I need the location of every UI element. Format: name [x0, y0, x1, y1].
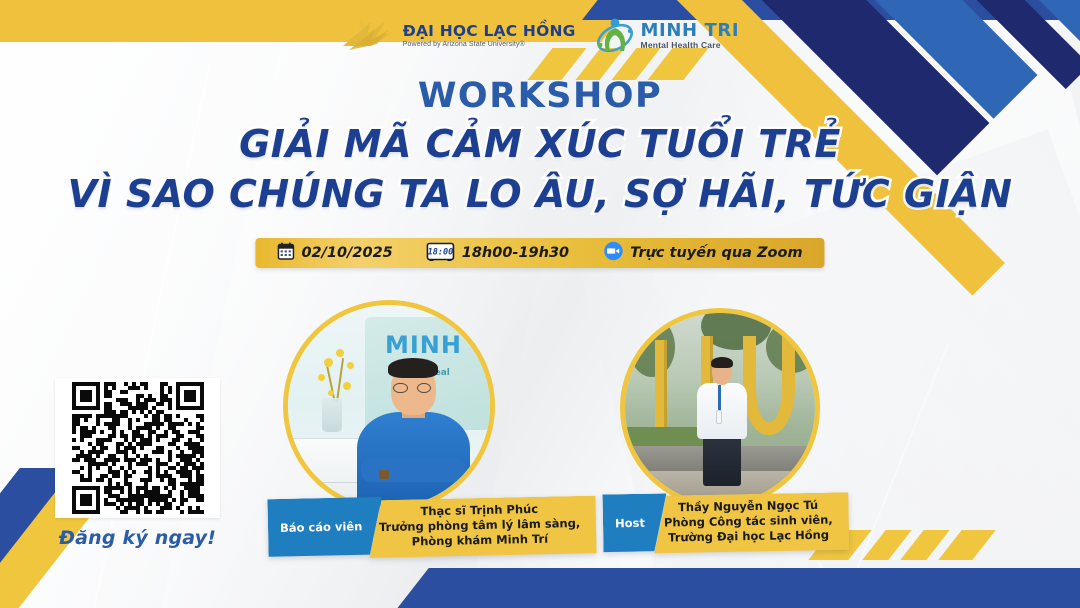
speaker-1-photo-scene: MINH Mental Heal [288, 305, 490, 507]
speaker-2-photo-scene [625, 313, 815, 503]
logo-minh-tri: MINH TRI Mental Health Care [594, 15, 740, 57]
speaker-2 [620, 308, 820, 508]
info-time-text: 18h00-19h30 [462, 245, 569, 261]
speaker-1-nameplate: Báo cáo viên Thạc sĩ Trịnh Phúc Trưởng p… [268, 498, 597, 556]
person-orbit-mark-icon [594, 15, 636, 57]
info-date: 02/10/2025 [277, 242, 392, 264]
poster-canvas: ĐẠI HỌC LẠC HỒNG Powered by Arizona Stat… [0, 0, 1080, 608]
logo-lac-hong: ĐẠI HỌC LẠC HỒNG Powered by Arizona Stat… [341, 16, 576, 56]
info-platform-text: Trực tuyến qua Zoom [630, 245, 802, 261]
speaker-1-role-badge: Báo cáo viên [267, 497, 383, 557]
clock-icon: 18:00 [427, 242, 455, 265]
zoom-camera-icon [603, 241, 623, 265]
info-date-text: 02/10/2025 [301, 245, 392, 261]
workshop-kicker: WORKSHOP [0, 76, 1080, 116]
logo-lac-hong-name: ĐẠI HỌC LẠC HỒNG [403, 24, 576, 40]
speaker-1: MINH Mental Heal [283, 300, 495, 512]
logo-minh-tri-tagline: Mental Health Care [641, 41, 740, 50]
svg-text:18:00: 18:00 [428, 247, 454, 257]
logo-minh-tri-name: MINH TRI [641, 22, 740, 41]
registration-label: Đăng ký ngay! [55, 527, 220, 549]
info-time: 18:00 18h00-19h30 [427, 242, 569, 265]
event-info-bar: 02/10/2025 18:00 18h00-19h30 [255, 238, 824, 268]
arrow-star-mark-icon [341, 16, 397, 56]
logo-lac-hong-tagline: Powered by Arizona State University® [403, 41, 576, 48]
speaker-2-details: Thầy Nguyễn Ngọc Tú Phòng Công tác sinh … [653, 492, 849, 553]
qr-frame[interactable] [55, 378, 220, 518]
speaker-2-nameplate: Host Thầy Nguyễn Ngọc Tú Phòng Công tác … [603, 494, 849, 552]
speaker-1-details: Thạc sĩ Trịnh Phúc Trưởng phòng tâm lý l… [369, 496, 597, 558]
speaker-2-title-2: Trường Đại học Lạc Hồng [664, 528, 833, 546]
headline-line-1: GIẢI MÃ CẢM XÚC TUỔI TRẺ [0, 122, 1080, 166]
speaker-2-photo [620, 308, 820, 508]
calendar-icon [277, 242, 294, 264]
info-platform: Trực tuyến qua Zoom [603, 241, 802, 265]
logo-row: ĐẠI HỌC LẠC HỒNG Powered by Arizona Stat… [0, 8, 1080, 64]
registration-qr-code[interactable] [72, 382, 204, 514]
registration-block: Đăng ký ngay! [55, 378, 220, 549]
headline-line-2: VÌ SAO CHÚNG TA LO ÂU, SỢ HÃI, TỨC GIẬN [0, 172, 1080, 216]
speaker-1-photo: MINH Mental Heal [283, 300, 495, 512]
